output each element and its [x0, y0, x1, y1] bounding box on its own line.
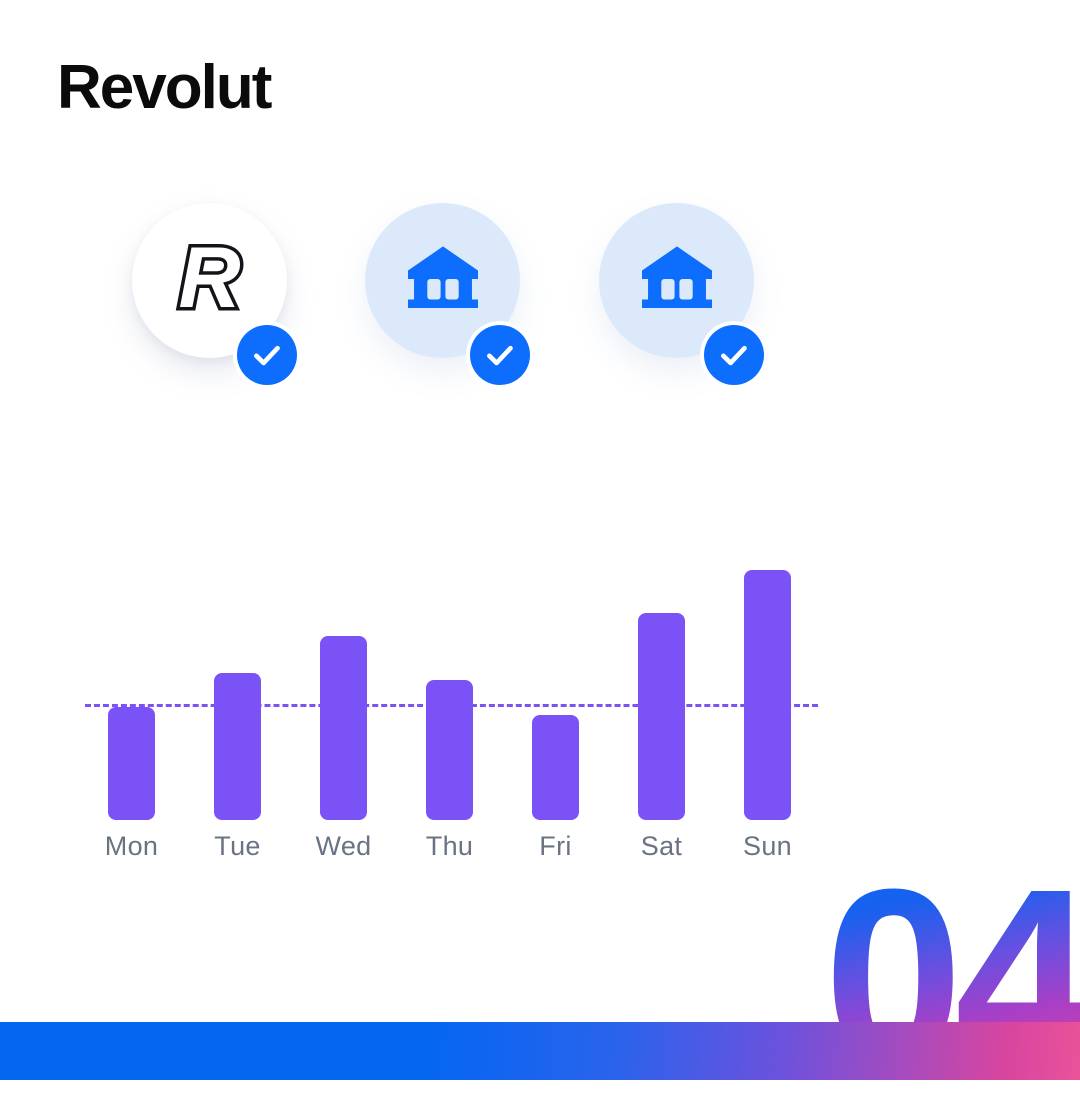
- chart-plot-area: [85, 555, 825, 820]
- verified-check-icon: [704, 325, 764, 385]
- chart-x-tick-label: Thu: [390, 833, 510, 860]
- chart-bar: [108, 707, 155, 820]
- weekly-spending-chart: MonTueWedThuFriSatSun: [0, 545, 1080, 885]
- chart-bar: [532, 715, 579, 820]
- chart-bar: [214, 673, 261, 820]
- chart-average-line: [85, 704, 818, 707]
- chart-x-tick-label: Sun: [708, 833, 828, 860]
- verified-check-icon: [237, 325, 297, 385]
- account-badge-bank-1[interactable]: [365, 203, 520, 358]
- chart-bar: [426, 680, 473, 820]
- verified-check-badge: [233, 321, 301, 389]
- verified-check-badge: [700, 321, 768, 389]
- account-badge-bank-2[interactable]: [599, 203, 754, 358]
- chart-x-axis: MonTueWedThuFriSatSun: [85, 833, 825, 873]
- verified-check-icon: [470, 325, 530, 385]
- footer-gradient-band: [0, 1022, 1080, 1080]
- chart-x-tick-label: Sat: [602, 833, 722, 860]
- account-badge-revolut[interactable]: R: [132, 203, 287, 358]
- bank-building-icon: [404, 244, 482, 314]
- chart-x-tick-label: Mon: [72, 833, 192, 860]
- chart-bar: [320, 636, 367, 820]
- bank-building-icon: [638, 244, 716, 314]
- chart-x-tick-label: Tue: [178, 833, 298, 860]
- chart-x-tick-label: Wed: [284, 833, 404, 860]
- chart-bar: [744, 570, 791, 820]
- verified-check-badge: [466, 321, 534, 389]
- chart-bar: [638, 613, 685, 820]
- revolut-r-logo-icon: R: [178, 235, 240, 321]
- chart-x-tick-label: Fri: [496, 833, 616, 860]
- connected-accounts-row: R: [0, 195, 1080, 410]
- brand-wordmark: Revolut: [57, 57, 270, 119]
